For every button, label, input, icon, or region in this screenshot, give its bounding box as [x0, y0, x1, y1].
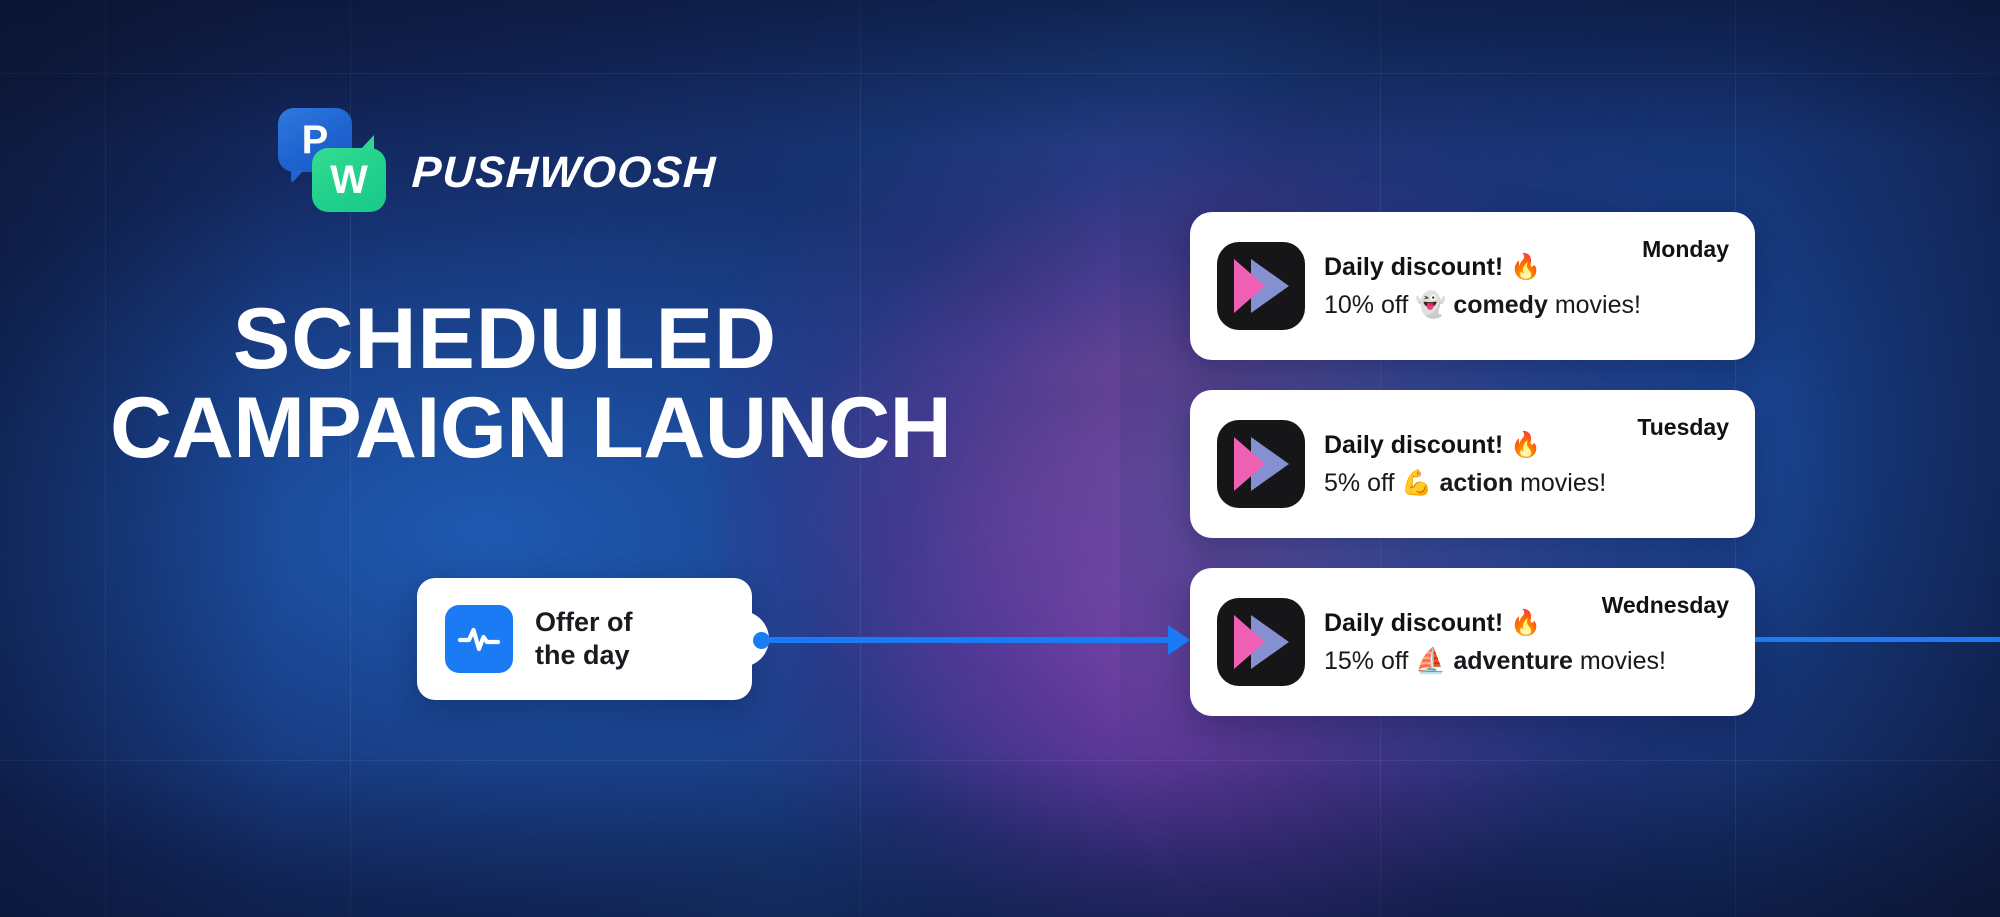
notification-genre: adventure [1453, 647, 1572, 675]
notification-genre: comedy [1453, 291, 1547, 319]
play-triangles-app-icon [1217, 420, 1305, 508]
page-title: SCHEDULED CAMPAIGN LAUNCH [110, 295, 900, 474]
notification-suffix: movies! [1520, 469, 1606, 497]
notification-message: 10% off 👻 comedy movies! [1324, 289, 1729, 322]
connector-line-outgoing [1755, 637, 2000, 642]
page-title-line-1: SCHEDULED [110, 295, 900, 384]
logo-bubble-w: W [312, 148, 386, 212]
notification-emoji: ⛵ [1415, 646, 1446, 675]
notification-emoji: 💪 [1401, 468, 1432, 497]
hero-banner: P W PUSHWOOSH SCHEDULED CAMPAIGN LAUNCH … [0, 0, 2000, 917]
activity-pulse-icon [445, 605, 513, 673]
pushwoosh-speech-bubbles-logo-icon: P W [278, 108, 386, 212]
notification-genre: action [1439, 469, 1513, 497]
arrow-right-icon [1168, 625, 1190, 655]
notification-suffix: movies! [1555, 291, 1641, 319]
notification-card[interactable]: Daily discount! 🔥 15% off ⛵ adventure mo… [1190, 568, 1755, 716]
notification-card[interactable]: Daily discount! 🔥 10% off 👻 comedy movie… [1190, 212, 1755, 360]
connector-dot-icon [753, 632, 770, 649]
notification-day-label: Wednesday [1602, 592, 1729, 619]
notification-day-label: Monday [1642, 236, 1729, 263]
logo-bubble-w-letter: W [330, 160, 368, 200]
trigger-card-label: Offer of the day [535, 606, 633, 672]
notification-day-label: Tuesday [1637, 414, 1729, 441]
notification-card[interactable]: Daily discount! 🔥 5% off 💪 action movies… [1190, 390, 1755, 538]
notification-discount: 5% off [1324, 469, 1394, 497]
brand-logo: P W PUSHWOOSH [278, 108, 716, 212]
notification-discount: 15% off [1324, 647, 1408, 675]
notification-message: 5% off 💪 action movies! [1324, 467, 1729, 500]
play-triangles-app-icon [1217, 598, 1305, 686]
notification-emoji: 👻 [1415, 290, 1446, 319]
notification-message: 15% off ⛵ adventure movies! [1324, 645, 1729, 678]
connector-line [765, 637, 1185, 643]
play-triangles-app-icon [1217, 242, 1305, 330]
notification-discount: 10% off [1324, 291, 1408, 319]
notification-suffix: movies! [1580, 647, 1666, 675]
page-title-line-2: CAMPAIGN LAUNCH [110, 384, 900, 473]
trigger-card-offer-of-the-day[interactable]: Offer of the day [417, 578, 752, 700]
brand-wordmark: PUSHWOOSH [411, 148, 718, 198]
